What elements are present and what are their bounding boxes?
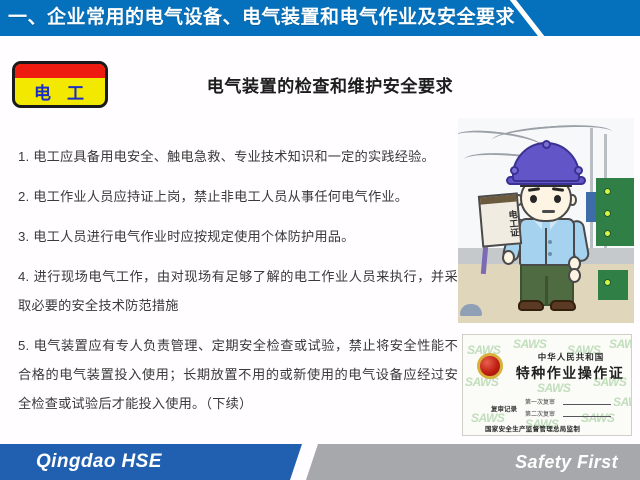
indicator-light-icon — [604, 279, 611, 286]
utility-pole-icon — [590, 128, 593, 253]
footer-gray-bar: Safety First — [306, 444, 640, 480]
hard-hat-knob — [542, 140, 551, 149]
footer-blue-bar: Qingdao HSE — [0, 444, 302, 480]
badge-char-dian: 电 — [34, 79, 53, 104]
footer-brand: Qingdao HSE — [36, 444, 162, 480]
page-title: 一、企业常用的电气设备、电气装置和电气作业及安全要求 — [8, 3, 515, 33]
electrician-badge: 电 工 — [12, 61, 108, 108]
certificate-title: 特种作业操作证 — [511, 363, 629, 383]
indicator-light-icon — [604, 188, 611, 195]
certificate-issuer: 国家安全生产监督管理总局监制 — [485, 423, 580, 433]
saws-watermark: SAWS — [513, 337, 546, 351]
worker-hand-left — [502, 250, 515, 265]
certificate-review-label: 复审记录 — [491, 403, 517, 413]
electrical-cabinet-icon — [598, 270, 628, 300]
electrician-license-card: 电工证 — [478, 192, 522, 247]
hard-hat-knob — [574, 166, 583, 175]
badge-red-band — [15, 64, 105, 78]
electrical-cabinet-icon — [596, 178, 634, 246]
indicator-light-icon — [604, 230, 611, 237]
indicator-light-icon — [604, 210, 611, 217]
header-underline — [0, 36, 640, 39]
license-card-text: 电工证 — [481, 203, 520, 244]
certificate-rule — [563, 416, 611, 417]
badge-label: 电 工 — [15, 78, 105, 105]
hard-hat-knob — [510, 166, 519, 175]
worker-eye — [530, 195, 537, 203]
electrician-illustration: 电工证 — [458, 118, 634, 323]
national-emblem-icon — [477, 353, 503, 379]
worker-shoe — [518, 300, 544, 311]
worker-shirt-button — [548, 252, 552, 256]
certificate-field-second: 第二次复审 — [525, 409, 555, 418]
certificate-rule — [563, 404, 611, 405]
worker-shirt-placket — [545, 228, 547, 266]
certificate-country: 中华人民共和国 — [515, 351, 627, 363]
list-item: 3. 电工人员进行电气作业时应按规定使用个体防护用品。 — [18, 222, 458, 251]
worker-shirt-button — [548, 240, 552, 244]
operation-certificate-image: SAWS SAWS SAWS SAWS SAWS SAWS SAWS SAWS … — [462, 334, 632, 436]
saws-watermark: SAWS — [613, 395, 632, 409]
worker-torso — [519, 218, 575, 266]
ground-stone — [460, 304, 482, 316]
saws-watermark: SAWS — [581, 411, 614, 425]
saws-watermark: SAWS — [609, 337, 632, 351]
slide-root: 一、企业常用的电气设备、电气装置和电气作业及安全要求 电 工 电气装置的检查和维… — [0, 0, 640, 480]
worker-mouth — [542, 210, 555, 213]
list-item: 1. 电工应具备用电安全、触电急救、专业技术知识和一定的实践经验。 — [18, 142, 458, 171]
certificate-field-first: 第一次复审 — [525, 397, 555, 406]
list-item: 5. 电气装置应有专人负责管理、定期安全检查或试验，禁止将安全性能不合格的电气装… — [18, 331, 458, 418]
footer-slogan: Safety First — [515, 444, 618, 480]
worker-leg-divider — [545, 276, 548, 306]
section-title: 电气装置的检查和维护安全要求 — [150, 72, 510, 97]
slide-header: 一、企业常用的电气设备、电气装置和电气作业及安全要求 — [0, 0, 640, 36]
worker-shoe — [550, 300, 576, 311]
slide-footer: Safety First Qingdao HSE — [0, 444, 640, 480]
worker-hand-right-lower — [568, 268, 581, 283]
list-item: 4. 进行现场电气工作，由对现场有足够了解的电工作业人员来执行，并采取必要的安全… — [18, 262, 458, 320]
list-item: 2. 电工作业人员应持证上岗，禁止非电工人员从事任何电气作业。 — [18, 182, 458, 211]
badge-char-gong: 工 — [67, 79, 86, 104]
worker-eye — [554, 195, 561, 203]
content-list: 1. 电工应具备用电安全、触电急救、专业技术知识和一定的实践经验。 2. 电工作… — [18, 142, 458, 418]
saws-watermark: SAWS — [537, 381, 570, 395]
